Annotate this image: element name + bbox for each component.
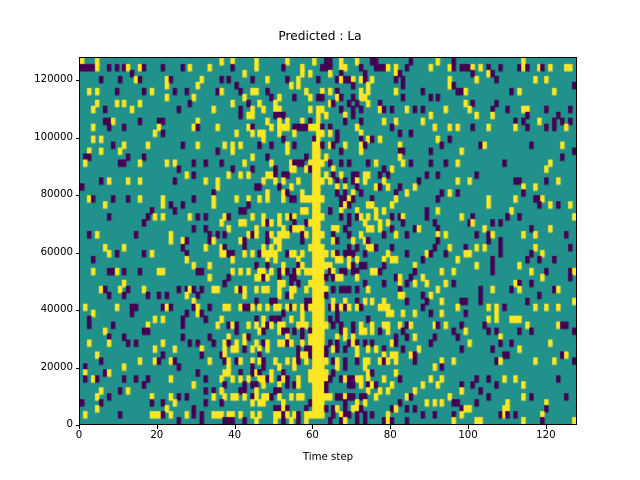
- x-tick-mark: [235, 425, 236, 429]
- y-tick-label: 120000: [0, 73, 73, 87]
- x-tick-mark: [468, 425, 469, 429]
- x-tick-mark: [390, 425, 391, 429]
- y-tick-label: 20000: [0, 361, 73, 375]
- x-tick-mark: [546, 425, 547, 429]
- x-tick-label: 80: [360, 430, 420, 441]
- x-tick-mark: [79, 425, 80, 429]
- x-tick-mark: [312, 425, 313, 429]
- heatmap-image: [80, 58, 576, 424]
- x-tick-label: 100: [438, 430, 498, 441]
- x-tick-label: 0: [49, 430, 109, 441]
- y-tick-label: 60000: [0, 246, 73, 260]
- matplotlib-figure: Predicted : La Frequency (Hz) 0200004000…: [0, 0, 640, 480]
- heatmap-axes[interactable]: [79, 57, 577, 425]
- chart-title: Predicted : La: [0, 29, 640, 43]
- x-tick-label: 60: [282, 430, 342, 441]
- y-tick-label: 80000: [0, 188, 73, 202]
- x-axis-label: Time step: [79, 452, 577, 463]
- x-tick-label: 120: [516, 430, 576, 441]
- x-tick-label: 40: [205, 430, 265, 441]
- y-tick-label: 40000: [0, 303, 73, 317]
- y-tick-label: 100000: [0, 131, 73, 145]
- x-tick-label: 20: [127, 430, 187, 441]
- x-tick-mark: [157, 425, 158, 429]
